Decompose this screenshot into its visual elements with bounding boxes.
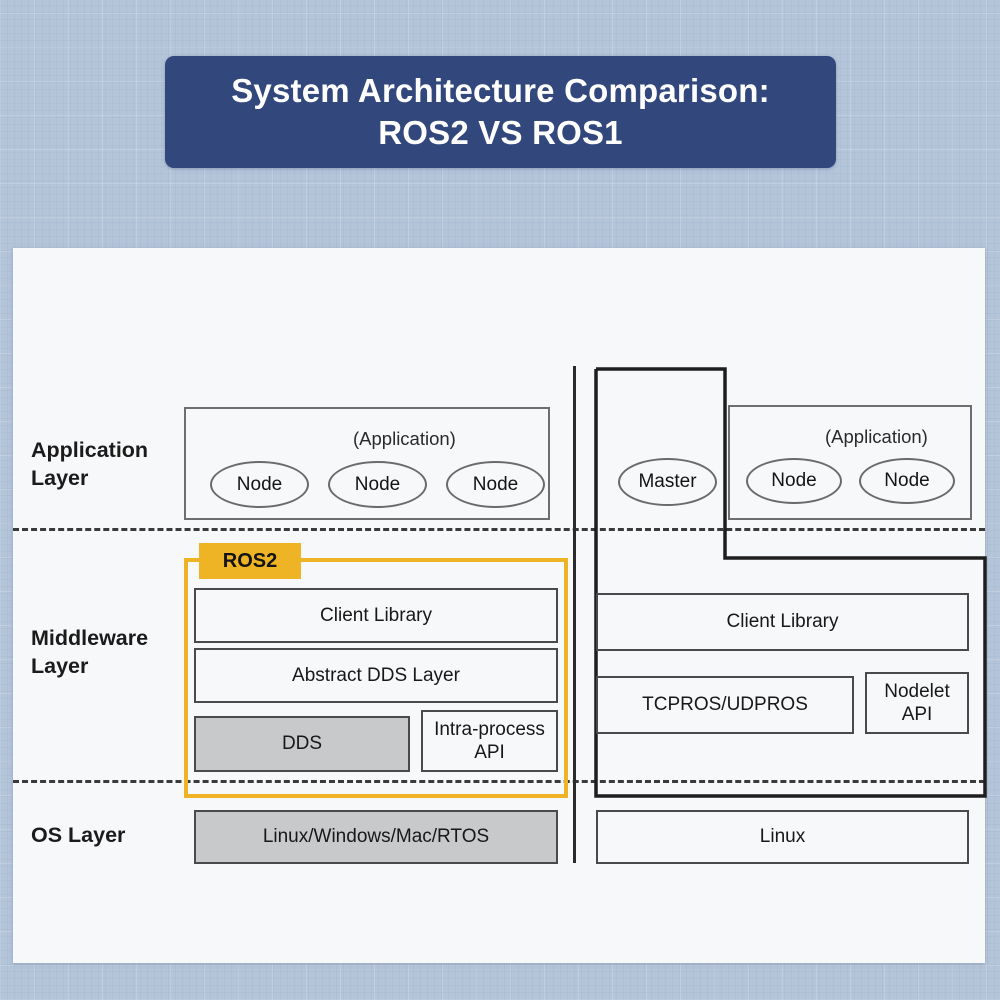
layer-label-application: Application Layer [31,436,148,493]
layer-label-middleware: Middleware Layer [31,624,148,681]
diagram-canvas: Application Layer Middleware Layer OS La… [13,248,985,963]
page-title-banner: System Architecture Comparison: ROS2 VS … [165,56,836,168]
page-title-line-1: System Architecture Comparison: [231,70,770,112]
ros2-node-1[interactable]: Node [210,461,309,508]
ros1-os-box[interactable]: Linux [596,810,969,864]
ros2-node-2[interactable]: Node [328,461,427,508]
ros2-node-3[interactable]: Node [446,461,545,508]
ros2-tag: ROS2 [199,543,301,579]
divider-application-middleware [13,528,985,531]
ros2-application-caption: (Application) [353,428,456,450]
ros2-client-library-box[interactable]: Client Library [194,588,558,643]
ros2-ros1-separator [573,366,576,863]
ros1-master-node[interactable]: Master [618,458,717,506]
ros2-os-box[interactable]: Linux/Windows/Mac/RTOS [194,810,558,864]
ros1-node-1[interactable]: Node [746,458,842,504]
ros2-intra-process-api-box[interactable]: Intra-process API [421,710,558,772]
ros1-nodelet-api-box[interactable]: Nodelet API [865,672,969,734]
architecture-diagram-card: Application Layer Middleware Layer OS La… [13,248,985,963]
ros2-abstract-dds-layer-box[interactable]: Abstract DDS Layer [194,648,558,703]
ros1-client-library-box[interactable]: Client Library [596,593,969,651]
page-title-line-2: ROS2 VS ROS1 [378,112,623,154]
ros1-application-caption: (Application) [825,426,928,448]
ros2-dds-box[interactable]: DDS [194,716,410,772]
layer-label-os: OS Layer [31,821,125,849]
ros1-node-2[interactable]: Node [859,458,955,504]
ros1-transport-box[interactable]: TCPROS/UDPROS [596,676,854,734]
